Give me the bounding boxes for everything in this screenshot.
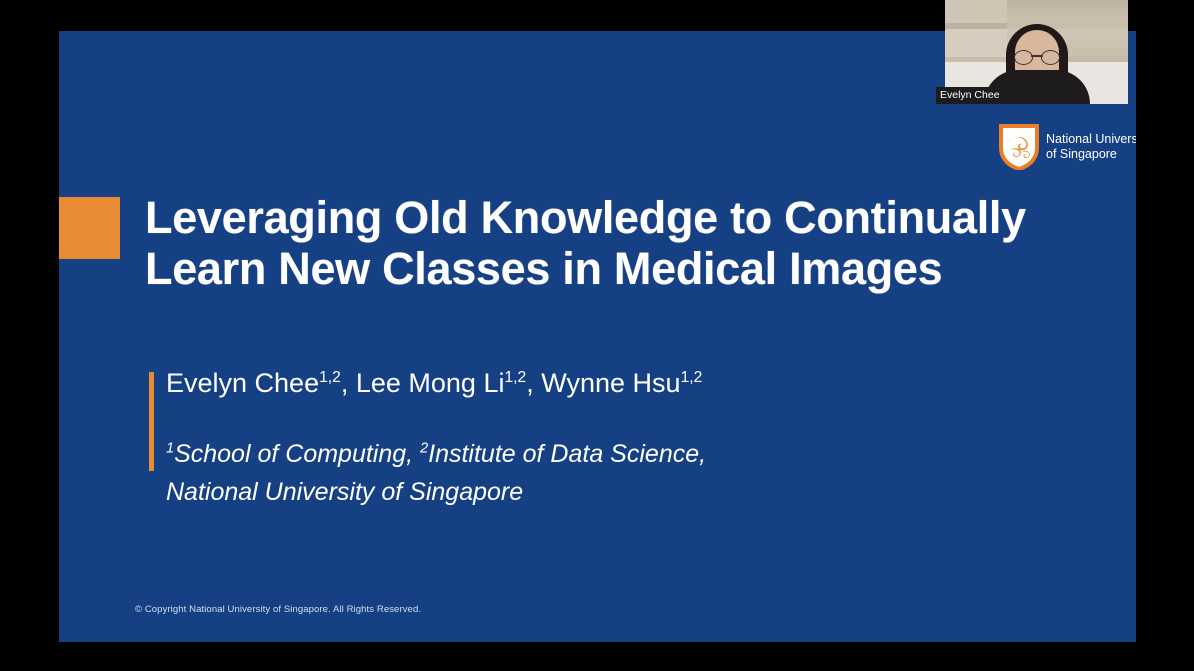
affiliation-block: 1School of Computing, 2Institute of Data…	[166, 435, 1066, 511]
presentation-slide: Leveraging Old Knowledge to Continually …	[59, 31, 1136, 642]
nus-wordmark: National University of Singapore	[1046, 132, 1136, 162]
screen-root: Leveraging Old Knowledge to Continually …	[0, 0, 1194, 671]
authors-line: Evelyn Chee1,2, Lee Mong Li1,2, Wynne Hs…	[166, 367, 1066, 400]
nus-lion-shield-icon	[999, 124, 1039, 170]
slide-title: Leveraging Old Knowledge to Continually …	[145, 192, 1105, 294]
copyright-note: © Copyright National University of Singa…	[135, 604, 421, 615]
affiliation-line-1: 1School of Computing, 2Institute of Data…	[166, 435, 1066, 473]
presenter-glasses	[1014, 50, 1060, 63]
title-accent-square	[59, 197, 120, 259]
author-accent-bar	[149, 372, 154, 471]
nus-branding-lockup: National University of Singapore	[999, 123, 1136, 171]
affiliation-line-2: National University of Singapore	[166, 473, 1066, 511]
presenter-name-tag: Evelyn Chee	[936, 87, 1004, 104]
